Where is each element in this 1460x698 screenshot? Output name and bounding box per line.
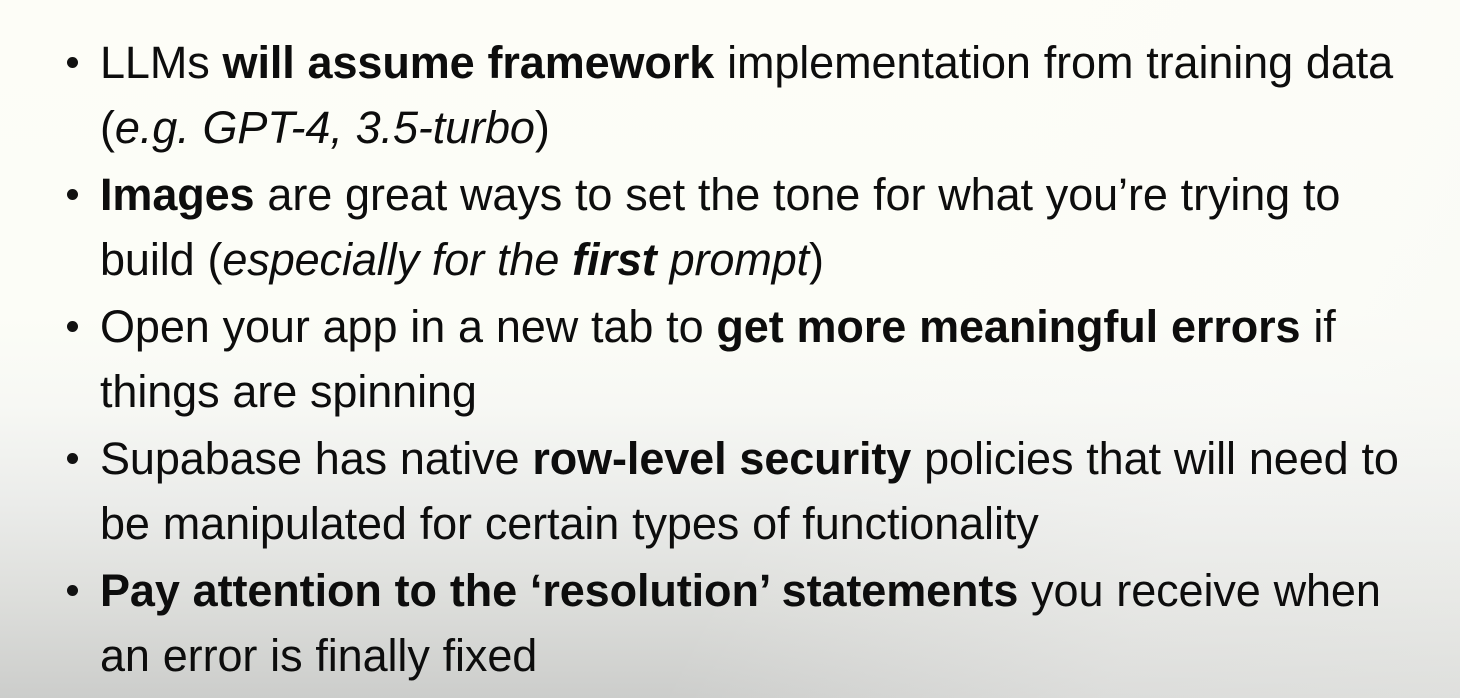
bullet-point-icon <box>67 321 78 332</box>
bullet-point-icon <box>67 585 78 596</box>
bullet-text-images-set-tone: Images are great ways to set the tone fo… <box>100 169 1340 285</box>
bullet-item-resolution-statements: Pay attention to the ‘resolution’ statem… <box>57 558 1440 688</box>
presentation-slide: LLMs will assume framework implementatio… <box>0 0 1460 698</box>
slide-bullet-list: LLMs will assume framework implementatio… <box>0 0 1460 688</box>
bullet-item-images-set-tone: Images are great ways to set the tone fo… <box>57 162 1440 292</box>
bullet-item-supabase-row-level-security: Supabase has native row-level security p… <box>57 426 1440 556</box>
bullet-text-llm-framework-assumption: LLMs will assume framework implementatio… <box>100 37 1393 153</box>
bullet-point-icon <box>67 189 78 200</box>
bullet-item-open-app-new-tab: Open your app in a new tab to get more m… <box>57 294 1440 424</box>
bullet-point-icon <box>67 453 78 464</box>
bullet-point-icon <box>67 57 78 68</box>
bullet-text-resolution-statements: Pay attention to the ‘resolution’ statem… <box>100 565 1381 681</box>
bullet-item-llm-framework-assumption: LLMs will assume framework implementatio… <box>57 30 1440 160</box>
bullet-text-supabase-row-level-security: Supabase has native row-level security p… <box>100 433 1399 549</box>
bullet-text-open-app-new-tab: Open your app in a new tab to get more m… <box>100 301 1336 417</box>
